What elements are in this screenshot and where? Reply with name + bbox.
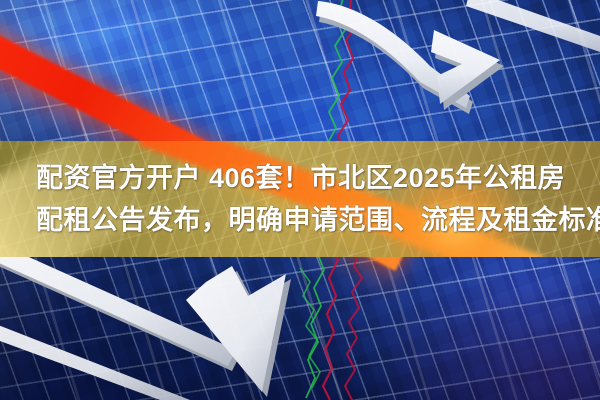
headline-text-block: 配资官方开户 406套！市北区2025年公租房 配租公告发布，明确申请范围、流程…: [0, 141, 600, 257]
headline-line-2: 配租公告发布，明确申请范围、流程及租金标准: [36, 199, 586, 241]
headline-line-1: 配资官方开户 406套！市北区2025年公租房: [36, 157, 586, 199]
arrow-band-highlight: [466, 0, 600, 52]
news-thumbnail-image: 配资官方开户 406套！市北区2025年公租房 配租公告发布，明确申请范围、流程…: [0, 0, 600, 400]
arrow-up-right-icon: [316, 1, 504, 114]
arrow-down-right-icon: [0, 236, 291, 397]
